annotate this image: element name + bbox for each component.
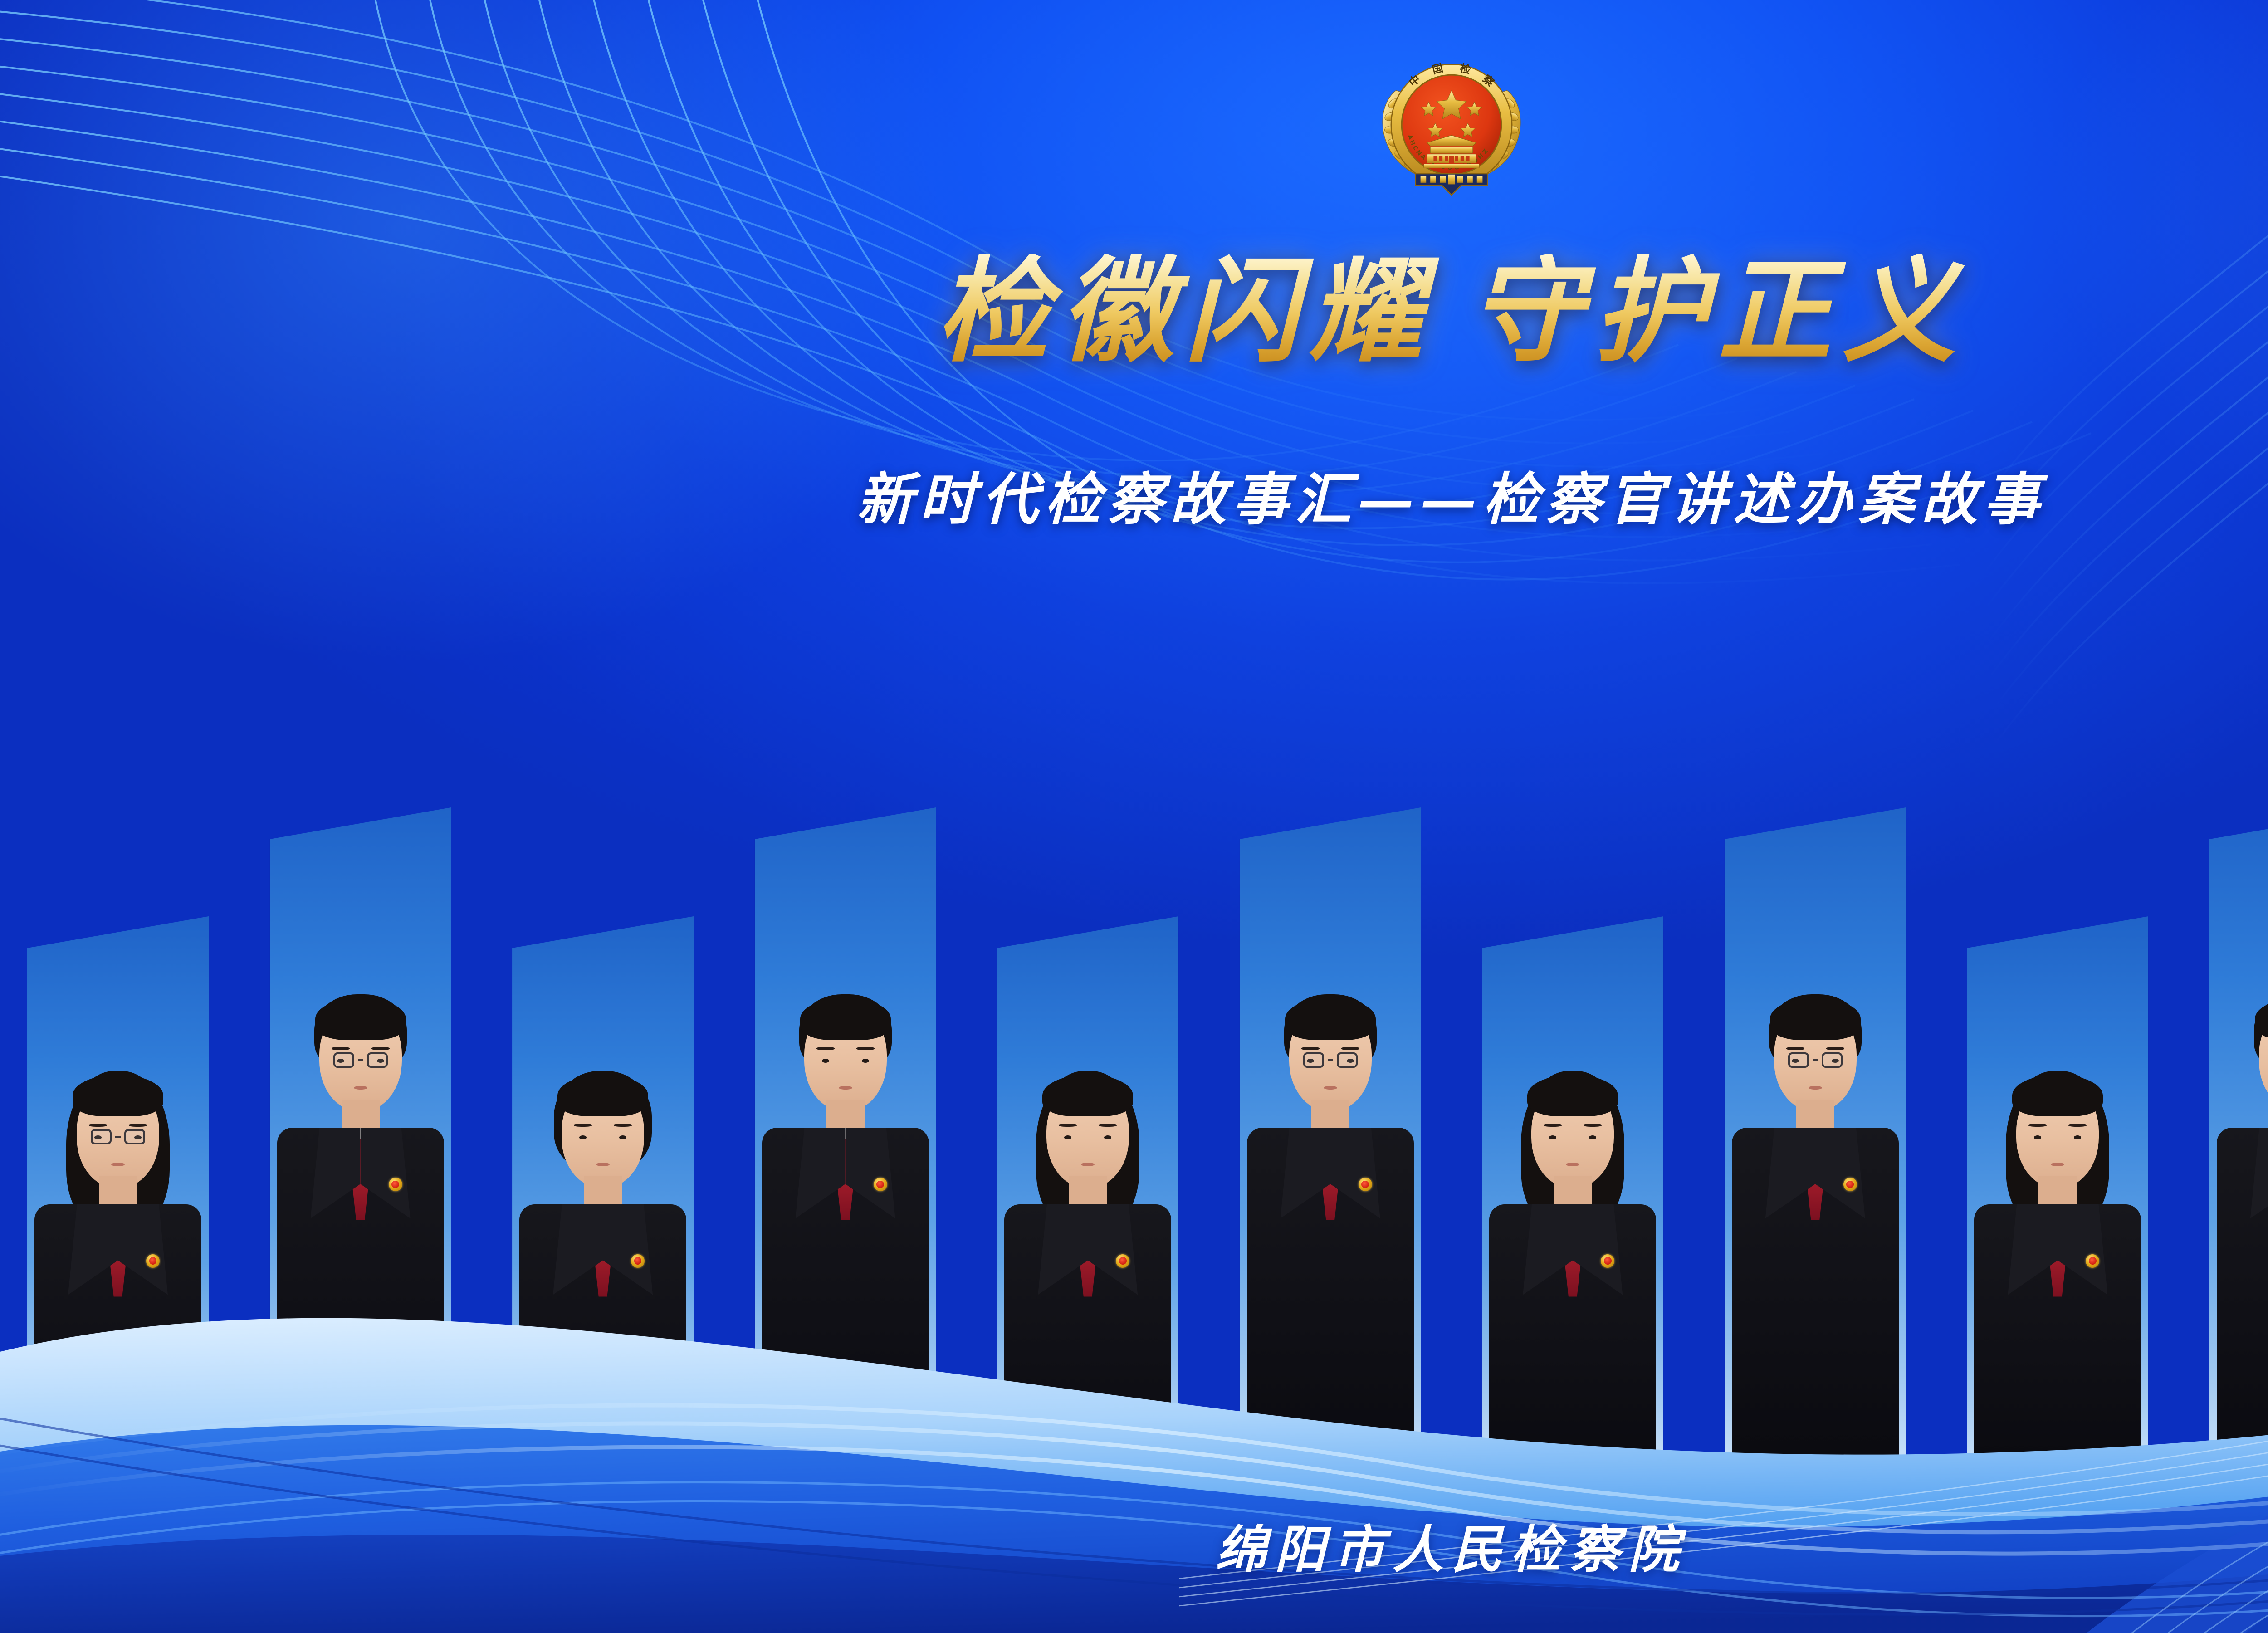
portrait-panel bbox=[755, 807, 936, 1474]
eye-left bbox=[1549, 1135, 1556, 1139]
eye-right bbox=[2074, 1135, 2081, 1139]
mouth bbox=[596, 1163, 610, 1166]
eyebrow-right bbox=[2068, 1124, 2087, 1127]
mouth bbox=[1809, 1086, 1822, 1090]
mouth bbox=[1324, 1086, 1337, 1090]
lens-right bbox=[1337, 1052, 1358, 1068]
page-subtitle: 新时代检察故事汇——检察官讲述办案故事 bbox=[0, 472, 2268, 528]
lens-left bbox=[1788, 1052, 1809, 1068]
eye-left bbox=[579, 1135, 587, 1139]
portrait-5 bbox=[1004, 1039, 1171, 1474]
person-figure bbox=[762, 954, 929, 1474]
mouth bbox=[1081, 1163, 1095, 1166]
mouth bbox=[839, 1086, 852, 1090]
hair-fringe bbox=[1285, 998, 1376, 1040]
procuratorate-lapel-badge bbox=[1359, 1178, 1372, 1191]
glasses bbox=[333, 1052, 388, 1068]
eye-left bbox=[822, 1059, 829, 1063]
eyebrow-right bbox=[129, 1124, 147, 1127]
hair-fringe bbox=[1527, 1075, 1618, 1117]
procuratorate-lapel-badge bbox=[2086, 1254, 2099, 1268]
procuratorate-lapel-badge bbox=[1116, 1254, 1129, 1268]
eye-right bbox=[862, 1059, 869, 1063]
eyebrow-right bbox=[1341, 1047, 1359, 1050]
eyebrow-right bbox=[371, 1047, 390, 1050]
page-title: 检徽闪耀守护正义 bbox=[0, 254, 2268, 367]
procuratorate-lapel-badge bbox=[146, 1254, 160, 1268]
portrait-panel bbox=[1725, 807, 1906, 1474]
procuratorate-lapel-badge bbox=[1601, 1254, 1614, 1268]
portrait-6 bbox=[1247, 954, 1414, 1474]
person-figure bbox=[34, 1039, 201, 1474]
procuratorate-lapel-badge bbox=[874, 1178, 887, 1191]
eyebrow-right bbox=[1826, 1047, 1844, 1050]
eyebrow-left bbox=[1544, 1124, 1562, 1127]
eyebrow-right bbox=[1099, 1124, 1117, 1127]
portrait-panel bbox=[270, 807, 451, 1474]
title-main-part1: 检徽闪耀 bbox=[936, 244, 1433, 377]
procuratorate-lapel-badge bbox=[389, 1178, 402, 1191]
person-figure bbox=[1732, 954, 1899, 1474]
portrait-panel bbox=[997, 916, 1178, 1474]
portrait-4 bbox=[762, 954, 929, 1474]
person-figure bbox=[1489, 1039, 1656, 1474]
glasses-bridge bbox=[358, 1059, 363, 1061]
eyebrow-right bbox=[1584, 1124, 1602, 1127]
hair-fringe bbox=[557, 1075, 648, 1117]
organization-name: 绵阳市人民检察院 bbox=[0, 1509, 2268, 1582]
mouth bbox=[111, 1163, 125, 1166]
lens-left bbox=[333, 1052, 354, 1068]
portrait-2 bbox=[277, 954, 444, 1474]
portrait-strip bbox=[0, 649, 2268, 1474]
glasses bbox=[91, 1129, 145, 1144]
eyebrow-left bbox=[1059, 1124, 1077, 1127]
eyebrow-left bbox=[332, 1047, 350, 1050]
glasses-bridge bbox=[1328, 1059, 1333, 1061]
eyebrow-left bbox=[574, 1124, 592, 1127]
eye-right bbox=[1104, 1135, 1111, 1139]
portrait-10 bbox=[2217, 954, 2268, 1474]
eyebrow-left bbox=[1301, 1047, 1320, 1050]
title-main-part2: 守护正义 bbox=[1470, 244, 1967, 377]
mouth bbox=[354, 1086, 367, 1090]
eye-right bbox=[1589, 1135, 1596, 1139]
person-figure bbox=[519, 1039, 686, 1474]
hair-fringe bbox=[800, 998, 891, 1040]
eyebrow-right bbox=[856, 1047, 875, 1050]
portrait-panel bbox=[1967, 916, 2148, 1474]
portrait-panel bbox=[2209, 807, 2268, 1474]
hair-fringe bbox=[1042, 1075, 1133, 1117]
lens-right bbox=[367, 1052, 388, 1068]
eye-left bbox=[2034, 1135, 2041, 1139]
portrait-panel bbox=[512, 916, 694, 1474]
poster-canvas: 中 国 检 察 Z H O N G G U O J I A N C H bbox=[0, 0, 2268, 1633]
person-figure bbox=[1974, 1039, 2141, 1474]
portrait-panel bbox=[1482, 916, 1663, 1474]
glasses-bridge bbox=[115, 1136, 121, 1138]
person-figure bbox=[1004, 1039, 1171, 1474]
hair-fringe bbox=[2012, 1075, 2103, 1117]
lens-left bbox=[1303, 1052, 1324, 1068]
portrait-3 bbox=[519, 1039, 686, 1474]
eye-right bbox=[619, 1135, 626, 1139]
eyebrow-left bbox=[2028, 1124, 2047, 1127]
procuratorate-lapel-badge bbox=[1843, 1178, 1857, 1191]
eye-left bbox=[1064, 1135, 1071, 1139]
eyebrow-left bbox=[816, 1047, 835, 1050]
procuratorate-lapel-badge bbox=[631, 1254, 645, 1268]
lens-right bbox=[124, 1129, 145, 1144]
mouth bbox=[1566, 1163, 1579, 1166]
portrait-1 bbox=[34, 1039, 201, 1474]
person-figure bbox=[277, 954, 444, 1474]
lens-right bbox=[1822, 1052, 1843, 1068]
eyebrow-right bbox=[614, 1124, 632, 1127]
portrait-8 bbox=[1732, 954, 1899, 1474]
portrait-9 bbox=[1974, 1039, 2141, 1474]
hair-fringe bbox=[73, 1075, 163, 1117]
glasses bbox=[1303, 1052, 1358, 1068]
person-figure bbox=[2217, 954, 2268, 1474]
lens-left bbox=[91, 1129, 112, 1144]
eyebrow-left bbox=[89, 1124, 107, 1127]
procuratorate-emblem: 中 国 检 察 Z H O N G G U O J I A N C H bbox=[1370, 43, 1533, 206]
hair-fringe bbox=[315, 998, 406, 1040]
person-figure bbox=[1247, 954, 1414, 1474]
portrait-7 bbox=[1489, 1039, 1656, 1474]
glasses bbox=[1788, 1052, 1843, 1068]
hair-fringe bbox=[1770, 998, 1861, 1040]
mouth bbox=[2051, 1163, 2064, 1166]
portrait-panel bbox=[27, 916, 209, 1474]
portrait-panel bbox=[1240, 807, 1421, 1474]
eyebrow-left bbox=[1786, 1047, 1804, 1050]
glasses-bridge bbox=[1813, 1059, 1818, 1061]
